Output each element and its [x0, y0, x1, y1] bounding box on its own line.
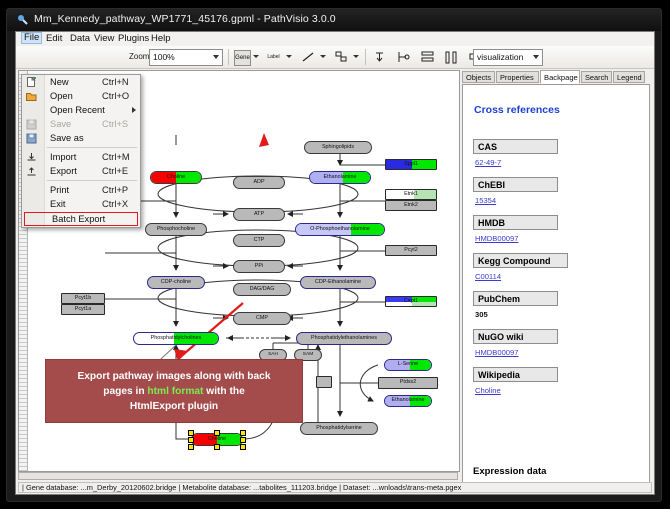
- menubar: File Edit Data View Plugins Help: [16, 32, 654, 47]
- open-folder-icon: [26, 91, 37, 102]
- callout-highlight: html format: [147, 386, 203, 397]
- zoom-value: 100%: [153, 52, 175, 62]
- menu-item-open[interactable]: Open Ctrl+O: [22, 89, 140, 103]
- node-cdp-ethanolamine[interactable]: CDP-Ethanolamine: [300, 276, 376, 289]
- annotation-callout: Export pathway images along with back pa…: [45, 359, 303, 423]
- menu-item-export[interactable]: Export Ctrl+E: [22, 164, 140, 178]
- application-window: Mm_Kennedy_pathway_WP1771_45176.gpml - P…: [6, 8, 662, 502]
- node-phosphatidylserine[interactable]: Phosphatidylserine: [300, 422, 378, 435]
- menu-item-open-recent[interactable]: Open Recent: [22, 103, 140, 117]
- tab-legend[interactable]: Legend: [613, 71, 645, 83]
- chevron-down-icon: [213, 55, 219, 59]
- status-text: | Gene database: ...m_Derby_20120602.bri…: [18, 482, 652, 493]
- toolbar-separator: [365, 49, 366, 65]
- backpage-content[interactable]: Cross references CAS 62-49-7 ChEBI 15354…: [462, 84, 650, 490]
- new-file-icon: [26, 77, 37, 88]
- selection-handle[interactable]: [188, 430, 194, 436]
- chevron-down-icon[interactable]: [253, 55, 259, 58]
- selection-handle[interactable]: [240, 437, 246, 443]
- horizontal-scrollbar[interactable]: [18, 472, 458, 480]
- export-icon: [26, 166, 37, 177]
- xref-value-nugo[interactable]: HMDB00097: [475, 348, 518, 357]
- chevron-down-icon[interactable]: [286, 55, 292, 58]
- label-button[interactable]: Label: [266, 50, 281, 64]
- xref-header-chebi: ChEBI: [473, 177, 558, 192]
- zoom-combo[interactable]: 100%: [149, 49, 223, 66]
- menu-view[interactable]: View: [91, 33, 117, 45]
- distribute-horizontal-icon[interactable]: [444, 50, 459, 64]
- node-ethanolamine-top[interactable]: Ethanolamine: [309, 171, 371, 184]
- selection-handle[interactable]: [240, 444, 246, 450]
- menu-separator: [47, 147, 137, 148]
- xref-value-chebi[interactable]: 15354: [475, 196, 496, 205]
- selection-handle[interactable]: [214, 444, 220, 450]
- distribute-vertical-icon[interactable]: [420, 50, 435, 64]
- menu-item-batch-export[interactable]: Batch Export: [24, 212, 138, 226]
- menu-data[interactable]: Data: [67, 33, 93, 45]
- node-anchor-box[interactable]: [316, 376, 332, 388]
- toolbar-separator: [228, 49, 229, 65]
- side-panel-tabs: Objects Properties Backpage Search Legen…: [462, 70, 652, 84]
- xref-value-hmdb[interactable]: HMDB00097: [475, 234, 518, 243]
- node-cdp-choline[interactable]: CDP-choline: [147, 276, 205, 289]
- node-etnk2[interactable]: Etnk2: [385, 200, 437, 211]
- node-cept1[interactable]: Cept1: [385, 296, 437, 307]
- node-dag[interactable]: DAG/DAG: [233, 283, 291, 296]
- selection-handle[interactable]: [188, 437, 194, 443]
- callout-line1: Export pathway images along with back: [77, 371, 270, 382]
- datanode-button[interactable]: Gene: [234, 50, 251, 66]
- xref-header-nugo: NuGO wiki: [473, 329, 558, 344]
- node-phosphatidylethanolamines[interactable]: Phosphatidylethanolamines: [296, 332, 392, 345]
- selection-handle[interactable]: [214, 430, 220, 436]
- node-adp[interactable]: ADP: [233, 176, 285, 189]
- menu-item-save: Save Ctrl+S: [22, 117, 140, 131]
- node-atp[interactable]: ATP: [233, 208, 285, 221]
- xref-header-kegg: Kegg Compound: [473, 253, 568, 268]
- menu-help[interactable]: Help: [148, 33, 174, 45]
- selection-handle[interactable]: [240, 430, 246, 436]
- xref-header-pubchem: PubChem: [473, 291, 558, 306]
- app-body: File Edit Data View Plugins Help Zoom: 1…: [15, 31, 655, 495]
- menu-plugins[interactable]: Plugins: [115, 33, 152, 45]
- tab-search[interactable]: Search: [581, 71, 612, 83]
- xref-header-cas: CAS: [473, 139, 558, 154]
- node-choline-top[interactable]: Choline: [150, 171, 202, 184]
- node-o-phosphoethanolamine[interactable]: O-Phosphoethanolamine: [295, 223, 385, 236]
- node-sgpl1[interactable]: Sgpl1: [385, 159, 437, 170]
- callout-line2c: with the: [203, 386, 244, 397]
- statusbar: | Gene database: ...m_Derby_20120602.bri…: [18, 472, 652, 492]
- node-l-serine[interactable]: L-Serine: [384, 359, 432, 371]
- callout-text: Export pathway images along with back pa…: [71, 369, 276, 414]
- shape-tool-icon[interactable]: [334, 50, 349, 64]
- menu-item-import[interactable]: Import Ctrl+M: [22, 150, 140, 164]
- node-phosphocholine[interactable]: Phosphocholine: [145, 223, 207, 236]
- align-left-icon[interactable]: [396, 50, 411, 64]
- save-disk-icon: [26, 119, 37, 130]
- line-tool-icon[interactable]: [301, 50, 316, 64]
- tab-backpage[interactable]: Backpage: [540, 70, 580, 84]
- pathvisio-icon: [17, 14, 28, 25]
- xref-value-cas[interactable]: 62-49-7: [475, 158, 501, 167]
- callout-line2a: pages in: [103, 386, 147, 397]
- node-ctp[interactable]: CTP: [233, 234, 285, 247]
- side-panel: Objects Properties Backpage Search Legen…: [460, 70, 652, 493]
- file-menu-popup[interactable]: New Ctrl+N Open Ctrl+O Open Recent Save …: [21, 74, 141, 228]
- save-as-icon: [26, 133, 37, 144]
- tab-properties[interactable]: Properties: [496, 71, 539, 83]
- node-pcyt2[interactable]: Pcyt2: [385, 245, 437, 256]
- menu-item-new[interactable]: New Ctrl+N: [22, 75, 140, 89]
- toolbar: Zoom: 100% Gene Label: [16, 46, 654, 69]
- xref-value-pubchem: 305: [475, 310, 488, 319]
- window-title: Mm_Kennedy_pathway_WP1771_45176.gpml - P…: [34, 13, 336, 25]
- selection-handle[interactable]: [188, 444, 194, 450]
- xref-header-wikipedia: Wikipedia: [473, 367, 558, 382]
- node-phosphatidylcholines[interactable]: Phosphatidylcholines: [133, 332, 219, 345]
- visualization-value: visualization: [477, 52, 523, 62]
- xref-header-hmdb: HMDB: [473, 215, 558, 230]
- chevron-down-icon[interactable]: [320, 55, 326, 58]
- menu-edit[interactable]: Edit: [43, 33, 65, 45]
- menu-item-print[interactable]: Print Ctrl+P: [22, 183, 140, 197]
- menu-separator: [47, 180, 137, 181]
- menu-item-save-as[interactable]: Save as: [22, 131, 140, 145]
- node-etnk1[interactable]: Etnk1: [385, 189, 437, 200]
- callout-line3: HtmlExport plugin: [130, 401, 218, 412]
- window-titlebar[interactable]: Mm_Kennedy_pathway_WP1771_45176.gpml - P…: [7, 9, 661, 31]
- xref-value-wikipedia[interactable]: Choline: [475, 386, 501, 395]
- tab-objects[interactable]: Objects: [462, 71, 495, 83]
- menu-item-exit[interactable]: Exit Ctrl+X: [22, 197, 140, 211]
- node-pcyt1b[interactable]: Pcyt1b: [61, 293, 105, 304]
- backpage-title: Cross references: [474, 104, 560, 116]
- align-top-icon[interactable]: [372, 50, 387, 64]
- node-cmp[interactable]: CMP: [233, 312, 291, 325]
- node-ptdss2[interactable]: Ptdss2: [378, 377, 438, 389]
- submenu-arrow-icon: [132, 107, 136, 113]
- node-pcyt1a[interactable]: Pcyt1a: [61, 304, 105, 315]
- menu-file[interactable]: File: [21, 32, 42, 44]
- import-icon: [26, 152, 37, 163]
- node-ethanolamine-low[interactable]: Ethanolamine: [384, 395, 432, 407]
- visualization-combo[interactable]: visualization: [473, 49, 543, 66]
- node-ppi[interactable]: PPi: [233, 260, 285, 273]
- screenshot-root: Mm_Kennedy_pathway_WP1771_45176.gpml - P…: [0, 0, 670, 509]
- chevron-down-icon[interactable]: [353, 55, 359, 58]
- node-sphingolipids[interactable]: Sphingolipids: [304, 141, 372, 154]
- xref-value-kegg[interactable]: C00114: [475, 272, 501, 281]
- chevron-down-icon: [533, 55, 539, 59]
